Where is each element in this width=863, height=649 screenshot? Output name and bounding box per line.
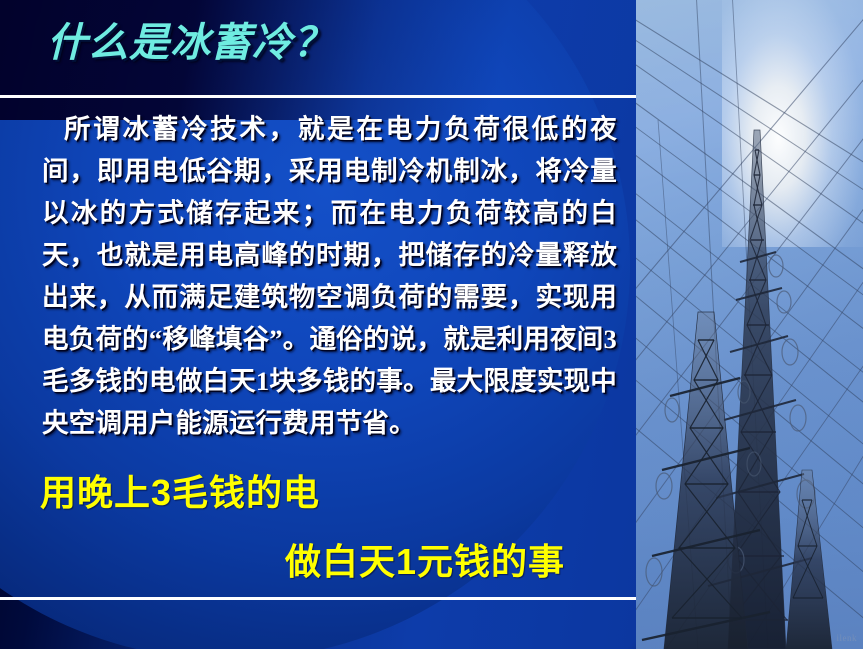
body-paragraph: 所谓冰蓄冷技术，就是在电力负荷很低的夜间，即用电低谷期，采用电制冷机制冰，将冷量… [42,108,617,444]
slide: 什么是冰蓄冷？ 所谓冰蓄冷技术，就是在电力负荷很低的夜间，即用电低谷期，采用电制… [0,0,863,649]
emphasis-line-1: 用晚上3毛钱的电 [40,473,320,513]
transmission-tower-photo: ilenk [636,0,863,649]
divider-top [0,95,636,98]
photo-watermark: ilenk [837,633,858,643]
content-panel: 什么是冰蓄冷？ 所谓冰蓄冷技术，就是在电力负荷很低的夜间，即用电低谷期，采用电制… [0,0,636,649]
divider-bottom [0,597,636,600]
tower-and-wires-illustration [636,0,863,649]
emphasis-line-2: 做白天1元钱的事 [285,542,565,582]
slide-title: 什么是冰蓄冷？ [47,20,334,66]
